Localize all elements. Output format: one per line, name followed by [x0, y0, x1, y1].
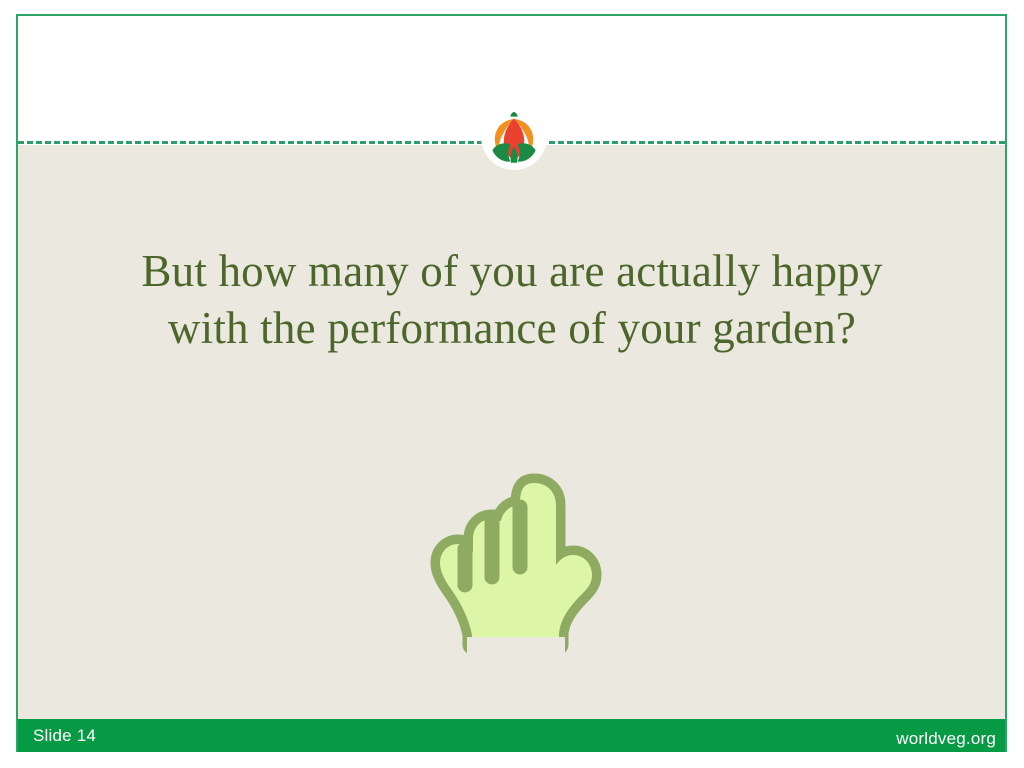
pointing-hand-icon [419, 449, 609, 657]
worldveg-flower-logo-icon [481, 104, 547, 170]
footer-bar [18, 719, 1005, 752]
slide-number-label: Slide 14 [33, 726, 96, 746]
slide-title: But how many of you are actually happy w… [70, 243, 954, 357]
presentation-slide: But how many of you are actually happy w… [0, 0, 1024, 768]
site-url-label: worldveg.org [896, 729, 996, 749]
